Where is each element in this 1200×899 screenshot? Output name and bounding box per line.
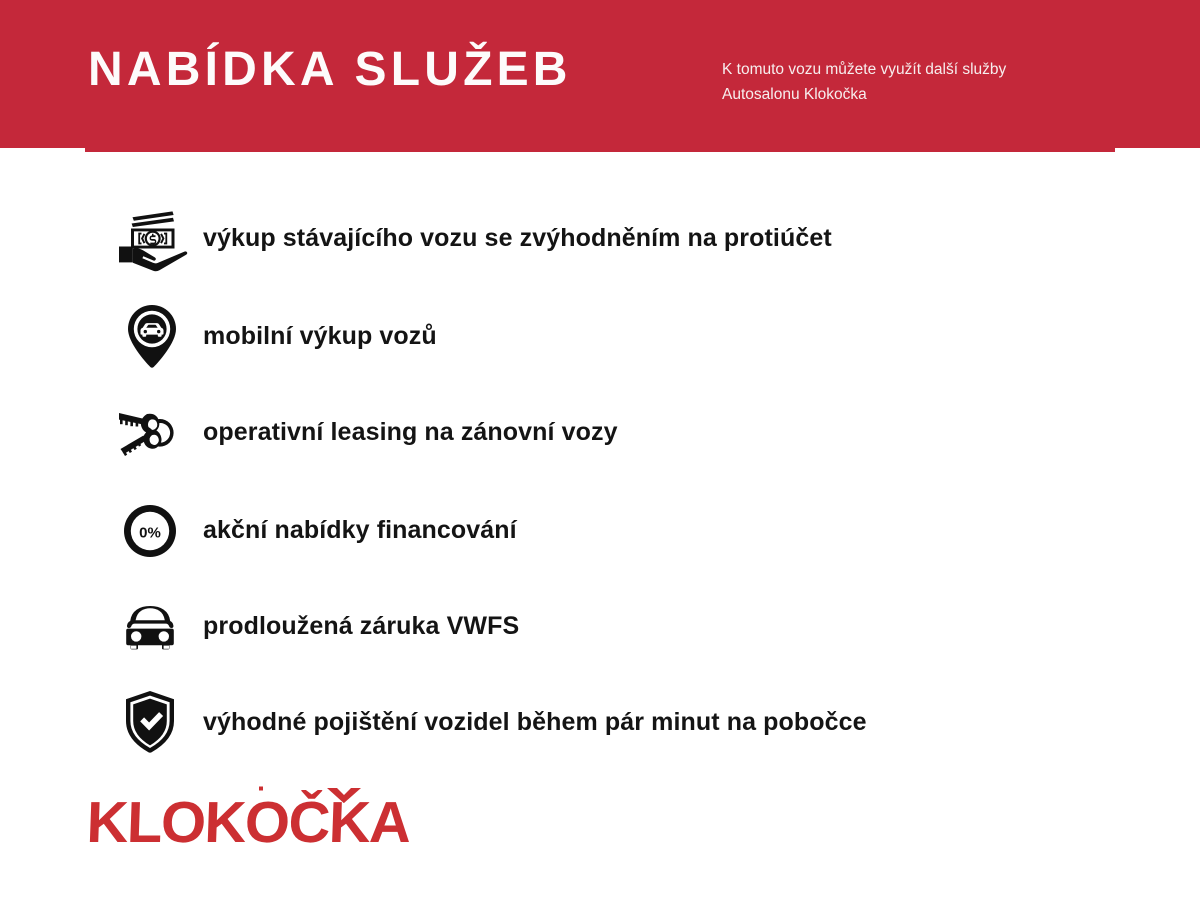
header-subtitle-line-2: Autosalonu Klokočka xyxy=(722,82,1142,107)
service-item-prodlouzena-zaruka[interactable]: prodloužená záruka VWFS xyxy=(116,584,519,670)
service-item-operativni-leasing[interactable]: operativní leasing na zánovní vozy xyxy=(116,390,618,476)
logo-wordmark: KLOKOČKA xyxy=(88,790,411,855)
service-item-label: operativní leasing na zánovní vozy xyxy=(203,419,618,447)
car-keys-icon xyxy=(116,394,188,472)
page-title: NABÍDKA SLUŽEB xyxy=(88,46,572,94)
header-subtitle: K tomuto vozu můžete využít další služby… xyxy=(722,57,1142,107)
klokocka-logo: KLOKOČKA xyxy=(88,786,488,856)
service-item-label: mobilní výkup vozů xyxy=(203,323,437,351)
service-item-label: výkup stávajícího vozu se zvýhodněním na… xyxy=(203,225,832,253)
service-item-pojisteni-vozidel[interactable]: výhodné pojištění vozidel během pár minu… xyxy=(116,680,867,766)
header-subtitle-line-1: K tomuto vozu můžete využít další služby xyxy=(722,57,1142,82)
service-item-label: výhodné pojištění vozidel během pár minu… xyxy=(203,709,867,737)
service-item-label: akční nabídky financování xyxy=(203,517,517,545)
service-item-akcni-financovani[interactable]: 0% akční nabídky financování xyxy=(116,488,517,574)
map-pin-car-icon xyxy=(116,298,188,376)
cash-in-hand-icon xyxy=(116,200,188,278)
zero-percent-label: 0% xyxy=(139,524,161,541)
zero-percent-icon: 0% xyxy=(116,492,188,570)
car-front-icon xyxy=(116,588,188,666)
service-item-label: prodloužená záruka VWFS xyxy=(203,613,519,641)
header-content: NABÍDKA SLUŽEB K tomuto vozu můžete využ… xyxy=(0,0,1200,148)
service-item-vykup-protiucet[interactable]: výkup stávajícího vozu se zvýhodněním na… xyxy=(116,196,832,282)
page-header: NABÍDKA SLUŽEB K tomuto vozu můžete využ… xyxy=(0,0,1200,148)
shield-check-icon xyxy=(116,684,188,762)
service-item-mobilni-vykup[interactable]: mobilní výkup vozů xyxy=(116,294,437,380)
header-bottom-accent xyxy=(85,148,1115,152)
